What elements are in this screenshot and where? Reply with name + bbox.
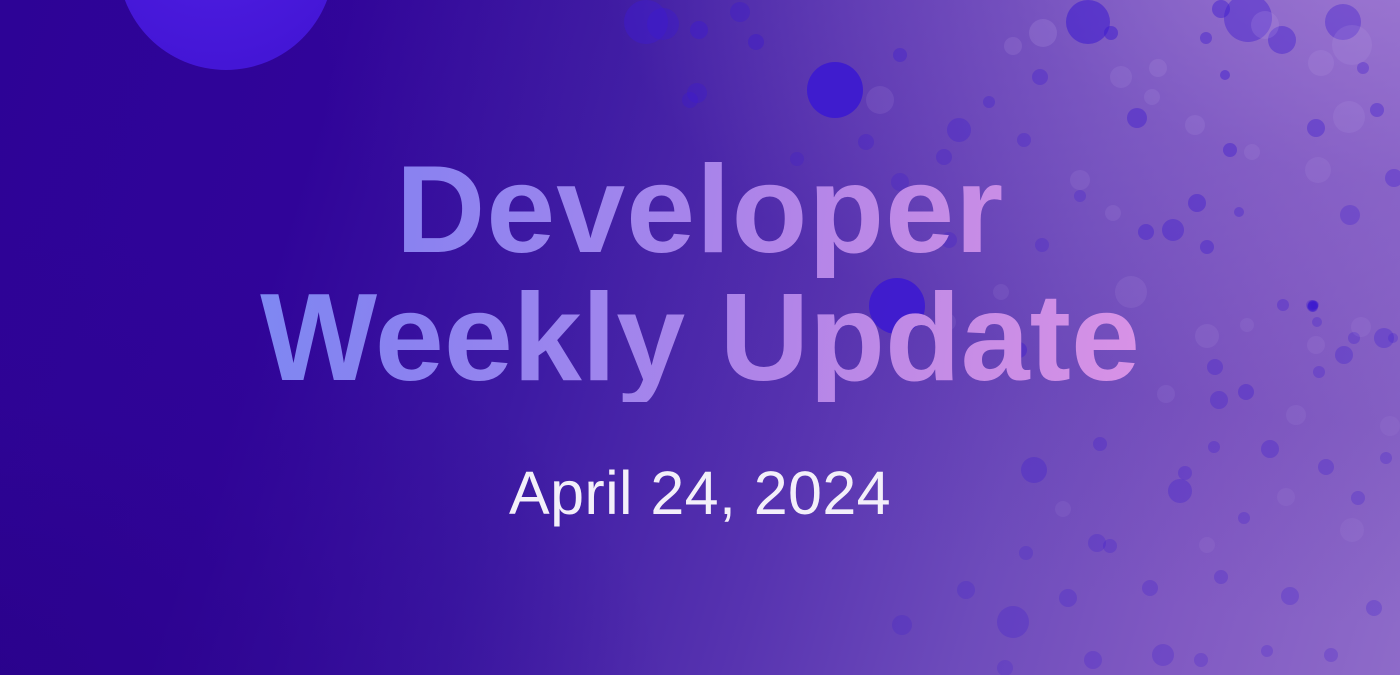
issue-date: April 24, 2024 <box>509 458 891 528</box>
headline-line-2: Weekly Update <box>260 275 1140 403</box>
headline-line-1: Developer <box>260 147 1140 275</box>
page-title: Developer Weekly Update <box>254 147 1146 402</box>
developer-weekly-update-banner: Developer Weekly Update April 24, 2024 <box>0 0 1400 675</box>
banner-content: Developer Weekly Update April 24, 2024 <box>0 0 1400 675</box>
